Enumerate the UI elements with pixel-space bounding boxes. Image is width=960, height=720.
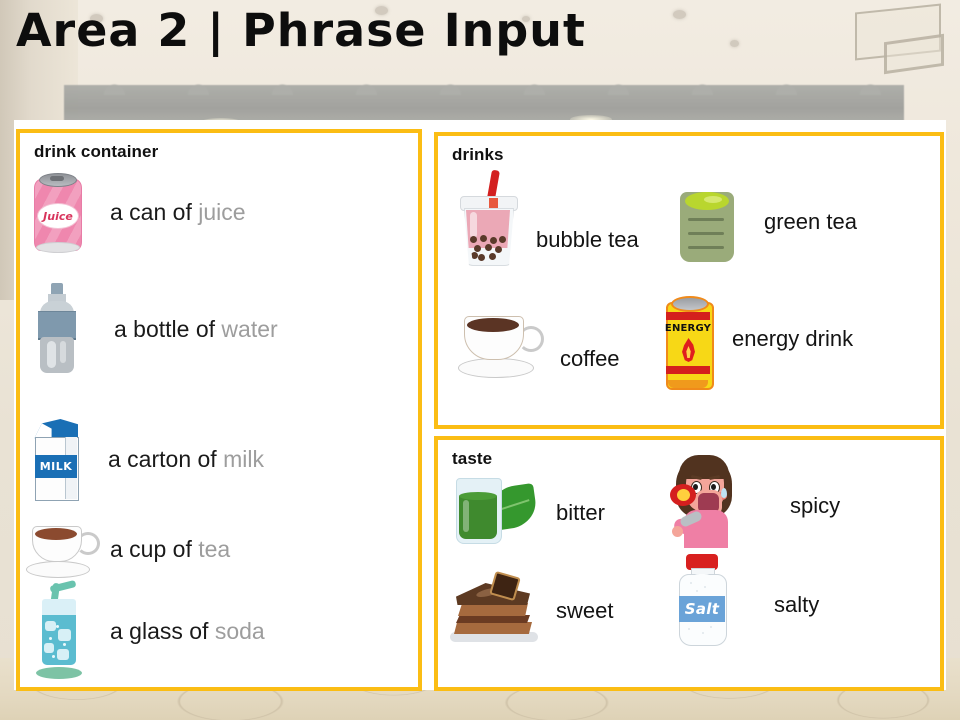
list-item[interactable]: sweet [448, 576, 613, 642]
label-energy-drink: energy drink [732, 326, 853, 352]
slide-stage: Area 2 | Phrase Input drink container Ju… [0, 0, 960, 720]
list-item[interactable]: a glass of soda [28, 581, 265, 681]
list-item[interactable]: bubble tea [456, 170, 639, 268]
milk-carton-label: MILK [40, 460, 73, 473]
juice-can-label: Juice [43, 210, 73, 223]
phrase-keyword: soda [215, 618, 265, 644]
phrase-prefix: a can of [110, 199, 198, 225]
label-salty: salty [774, 592, 819, 618]
label-sweet: sweet [556, 598, 613, 624]
label-green-tea: green tea [764, 209, 857, 235]
label-coffee: coffee [560, 346, 620, 372]
phrase-a-glass-of-soda: a glass of soda [110, 618, 265, 645]
milk-carton-icon: MILK [30, 415, 82, 503]
ceiling-fixture [673, 10, 686, 19]
list-item[interactable]: a bottle of water [32, 283, 278, 375]
salt-shaker-icon: Salt [672, 552, 732, 648]
spicy-face-icon [666, 452, 742, 548]
list-item[interactable]: bitter [454, 474, 605, 546]
phrase-keyword: tea [198, 536, 230, 562]
phrase-a-carton-of-milk: a carton of milk [108, 446, 264, 473]
phrase-keyword: water [221, 316, 277, 342]
phrase-prefix: a cup of [110, 536, 198, 562]
panel-title-drink-container: drink container [34, 142, 158, 162]
energy-can-icon: ENERGY [660, 294, 716, 390]
coffee-cup-icon [456, 308, 542, 380]
list-item[interactable]: coffee [456, 308, 620, 380]
label-spicy: spicy [790, 493, 840, 519]
list-item[interactable]: spicy [666, 452, 840, 548]
label-bubble-tea: bubble tea [536, 227, 639, 253]
phrase-keyword: juice [198, 199, 245, 225]
phrase-prefix: a carton of [108, 446, 223, 472]
bubble-tea-icon [456, 170, 520, 268]
panel-drinks: drinks bubble tea [434, 132, 944, 429]
ceiling-fixture [730, 40, 739, 47]
green-juice-leaf-icon [454, 474, 538, 546]
list-item[interactable]: ENERGY energy drink [660, 294, 853, 390]
page-title: Area 2 | Phrase Input [16, 8, 586, 53]
green-tea-icon [676, 186, 738, 266]
panel-taste: taste bitter [434, 436, 944, 691]
soda-glass-icon [28, 581, 90, 681]
label-bitter: bitter [556, 500, 605, 526]
phrase-a-can-of-juice: a can of juice [110, 199, 246, 226]
phrase-a-cup-of-tea: a cup of tea [110, 536, 230, 563]
panel-title-taste: taste [452, 449, 492, 469]
panel-drink-container: drink container Juice a can of juice a b… [16, 129, 422, 691]
list-item[interactable]: a cup of tea [24, 518, 230, 580]
chocolate-cake-icon [448, 576, 540, 642]
list-item[interactable]: Juice a can of juice [30, 169, 246, 255]
salt-bottle-label: Salt [685, 600, 719, 618]
panel-title-drinks: drinks [452, 145, 504, 165]
water-bottle-icon [32, 283, 82, 375]
phrase-keyword: milk [223, 446, 264, 472]
list-item[interactable]: green tea [676, 186, 857, 266]
phrase-prefix: a glass of [110, 618, 215, 644]
energy-can-label: ENERGY [665, 323, 711, 334]
list-item[interactable]: MILK a carton of milk [30, 415, 264, 503]
juice-can-icon: Juice [30, 169, 84, 255]
phrase-a-bottle-of-water: a bottle of water [114, 316, 278, 343]
list-item[interactable]: Salt salty [672, 552, 819, 648]
tea-cup-icon [24, 518, 98, 580]
phrase-prefix: a bottle of [114, 316, 221, 342]
